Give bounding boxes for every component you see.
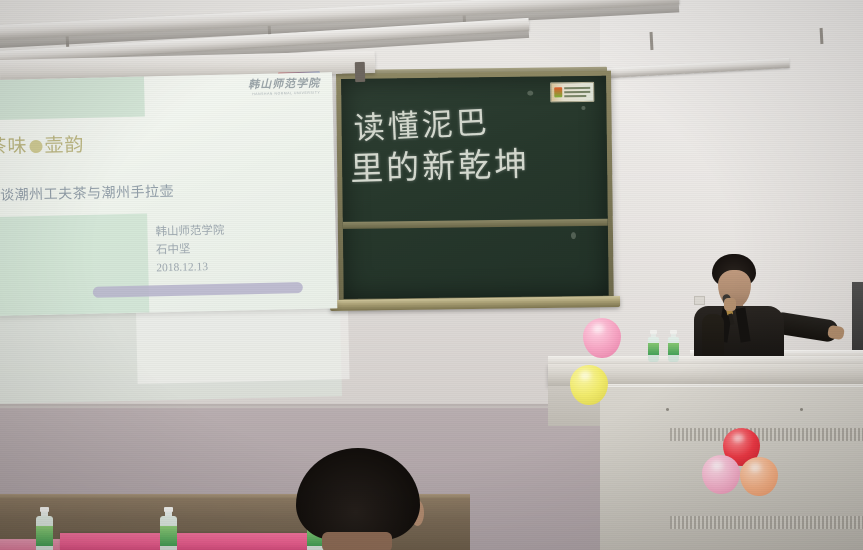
water-bottle [160,507,177,550]
water-bottle [648,330,659,362]
blackboard-divider [343,219,608,229]
water-bottle [36,507,53,550]
podium-vent [670,516,863,529]
blackboard-surface: 读懂泥巴 里的新乾坤 [341,76,609,299]
balloon-pink-lower [702,455,740,494]
slide-presenter: 石中坚 [156,241,225,260]
slide-meta-block: 韩山师范学院 石中坚 2018.12.13 [155,223,225,278]
projection-spill-inner [136,307,350,384]
blackboard-sticker [550,82,594,103]
blackboard-text-line-2: 里的新乾坤 [349,137,530,190]
audience-neck [322,532,392,550]
slide-date: 2018.12.13 [156,258,225,277]
presentation-slide: 韩山师范学院 HANSHAN NORMAL UNIVERSITY 茶味壶韵 --… [0,72,337,316]
speaker-person [680,254,840,369]
audience-hair [296,448,420,540]
blackboard: 读懂泥巴 里的新乾坤 [336,71,614,304]
right-dark-panel [852,282,863,352]
slide-subtitle: ---谈潮州工夫茶与潮州手拉壶 [0,181,174,205]
slide-band-top [0,77,145,120]
slide-band-bottom [0,214,149,316]
balloon-yellow [570,365,608,405]
slide-title-dot-icon [29,140,42,153]
university-logo-en: HANSHAN NORMAL UNIVERSITY [248,92,320,97]
lecture-hall-photo: 读懂泥巴 里的新乾坤 韩山师范学院 HANSHAN NORMAL UNIVERS… [0,0,863,550]
slide-organization: 韩山师范学院 [155,223,224,242]
water-bottle [668,330,679,362]
university-logo: 韩山师范学院 HANSHAN NORMAL UNIVERSITY [248,79,320,97]
projection-screen: 韩山师范学院 HANSHAN NORMAL UNIVERSITY 茶味壶韵 --… [0,72,337,316]
speaker-right-hand [827,325,845,341]
audience-member [296,448,420,550]
slide-title-part1: 茶味 [0,136,28,158]
slide-title: 茶味壶韵 [0,130,85,159]
podium-vent [670,428,863,441]
university-logo-cn: 韩山师范学院 [248,79,320,92]
balloon-pink-upper [583,318,621,358]
roller-end-cap [355,62,365,82]
balloon-peach [740,457,778,496]
slide-title-part2: 壶韵 [44,135,84,157]
speaker-left-hand [724,298,736,311]
